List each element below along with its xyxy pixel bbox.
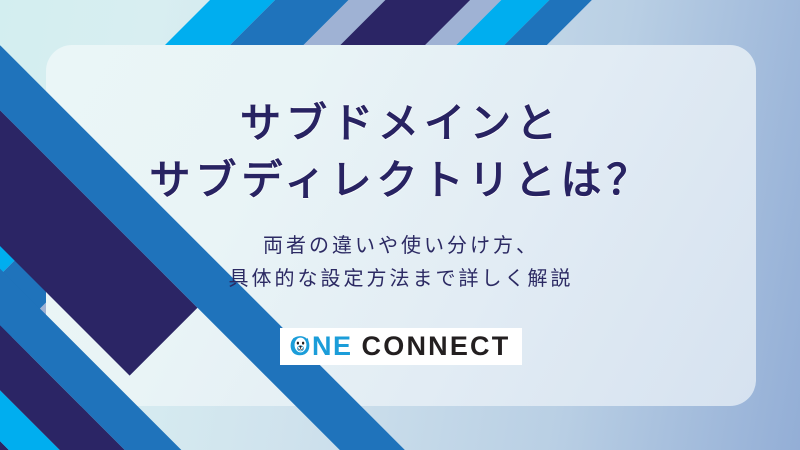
title-line-2: サブディレクトリとは？ <box>149 152 652 209</box>
dog-mascot-icon <box>291 335 310 355</box>
banner-title: サブドメインと サブディレクトリとは？ <box>149 95 652 208</box>
subtitle-line-1: 両者の違いや使い分け方、 <box>229 230 574 263</box>
banner-subtitle: 両者の違いや使い分け方、 具体的な設定方法まで詳しく解説 <box>229 230 574 296</box>
article-thumbnail-banner: サブドメインと サブディレクトリとは？ 両者の違いや使い分け方、 具体的な設定方… <box>0 0 800 450</box>
subtitle-line-2: 具体的な設定方法まで詳しく解説 <box>229 263 574 296</box>
brand-logo: ONE <box>280 328 523 365</box>
banner-content: サブドメインと サブディレクトリとは？ 両者の違いや使い分け方、 具体的な設定方… <box>46 45 756 406</box>
title-line-1: サブドメインと <box>149 95 652 152</box>
logo-mark: ONE <box>290 333 353 360</box>
logo-connect-text: CONNECT <box>362 333 511 360</box>
